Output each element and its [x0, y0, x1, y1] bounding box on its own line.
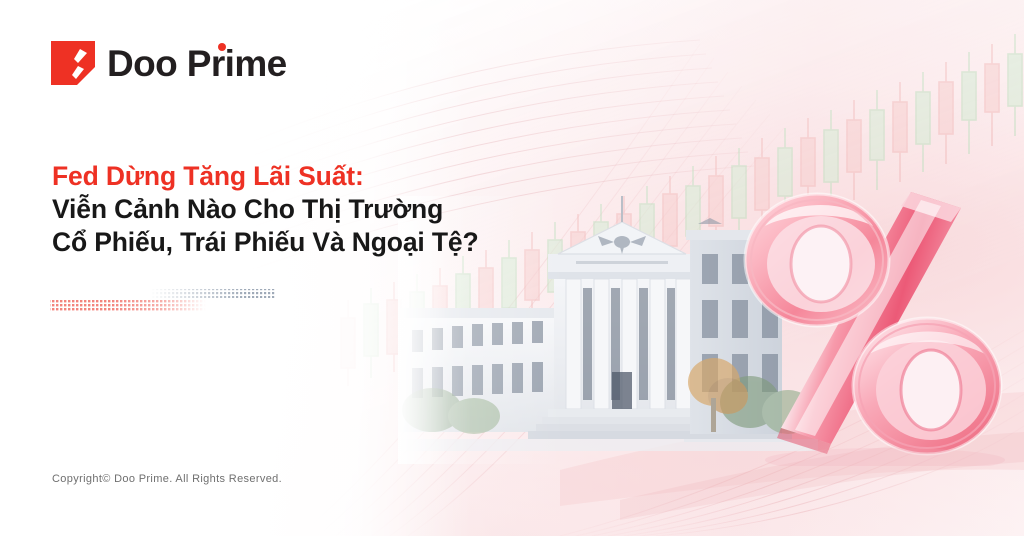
copyright-text: Copyright© Doo Prime. All Rights Reserve…: [52, 473, 282, 485]
headline-line-1: Fed Dừng Tăng Lãi Suất:: [52, 160, 572, 193]
doo-prime-logo[interactable]: Doo Prime: [51, 41, 287, 85]
percent-symbol-3d: [735, 178, 1011, 466]
marketing-banner: Doo Prime Fed Dừng Tăng Lãi Suất: Viễn C…: [0, 0, 1024, 536]
logo-wordmark: Doo Prime: [107, 45, 287, 82]
headline-block: Fed Dừng Tăng Lãi Suất: Viễn Cảnh Nào Ch…: [52, 160, 572, 259]
headline-line-3: Cổ Phiếu, Trái Phiếu Và Ngoại Tệ?: [52, 226, 572, 259]
logo-i-dot-icon: [218, 43, 226, 51]
doo-prime-logo-mark: [51, 41, 95, 85]
logo-wordmark-text: Doo Prime: [107, 43, 287, 84]
headline-line-2: Viễn Cảnh Nào Cho Thị Trường: [52, 193, 572, 226]
